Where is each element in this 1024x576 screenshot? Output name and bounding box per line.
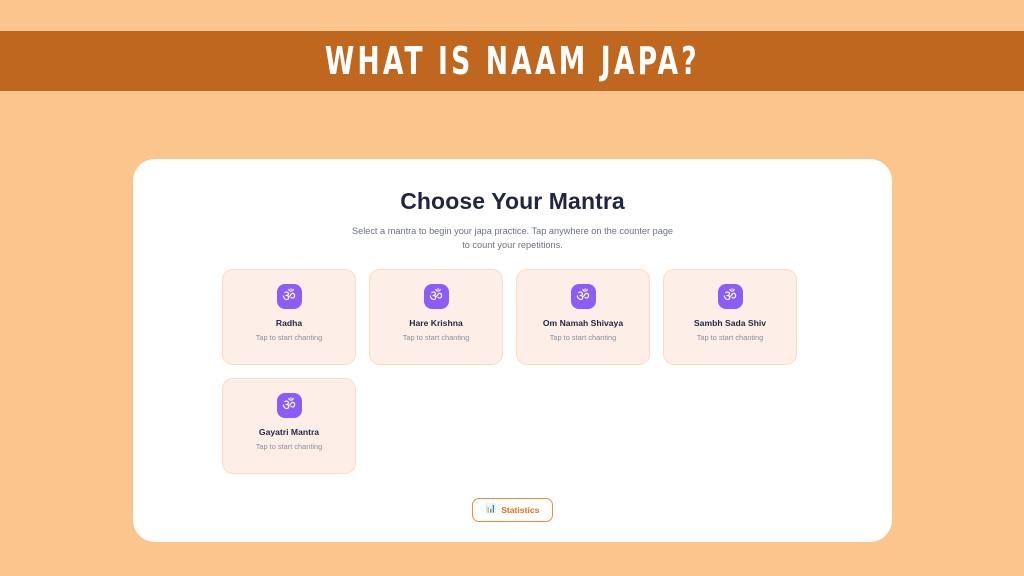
mantra-name: Radha (276, 318, 302, 328)
app-card: Choose Your Mantra Select a mantra to be… (133, 159, 892, 542)
om-icon: ॐ (277, 284, 302, 309)
page-subtitle: Select a mantra to begin your japa pract… (348, 224, 678, 253)
mantra-name: Hare Krishna (409, 318, 463, 328)
statistics-row: 📊 Statistics (133, 498, 892, 522)
statistics-button-label: Statistics (501, 505, 539, 515)
mantra-card-radha[interactable]: ॐ Radha Tap to start chanting (222, 269, 356, 365)
mantra-name: Sambh Sada Shiv (694, 318, 766, 328)
app-header: Choose Your Mantra Select a mantra to be… (133, 159, 892, 253)
mantra-card-gayatri-mantra[interactable]: ॐ Gayatri Mantra Tap to start chanting (222, 378, 356, 474)
mantra-hint: Tap to start chanting (256, 333, 323, 342)
mantra-grid: ॐ Radha Tap to start chanting ॐ Hare Kri… (222, 269, 807, 474)
om-icon: ॐ (718, 284, 743, 309)
bar-chart-icon: 📊 (486, 505, 497, 514)
om-icon: ॐ (424, 284, 449, 309)
mantra-name: Gayatri Mantra (259, 427, 319, 437)
page-title: Choose Your Mantra (133, 188, 892, 215)
title-banner: WHAT IS NAAM JAPA? (0, 31, 1024, 91)
mantra-hint: Tap to start chanting (403, 333, 470, 342)
mantra-hint: Tap to start chanting (256, 442, 323, 451)
om-icon: ॐ (571, 284, 596, 309)
mantra-card-hare-krishna[interactable]: ॐ Hare Krishna Tap to start chanting (369, 269, 503, 365)
mantra-hint: Tap to start chanting (697, 333, 764, 342)
statistics-button[interactable]: 📊 Statistics (472, 498, 554, 522)
banner-title: WHAT IS NAAM JAPA? (324, 42, 699, 80)
mantra-hint: Tap to start chanting (550, 333, 617, 342)
mantra-card-sambh-sada-shiv[interactable]: ॐ Sambh Sada Shiv Tap to start chanting (663, 269, 797, 365)
om-icon: ॐ (277, 393, 302, 418)
mantra-name: Om Namah Shivaya (543, 318, 623, 328)
mantra-card-om-namah-shivaya[interactable]: ॐ Om Namah Shivaya Tap to start chanting (516, 269, 650, 365)
